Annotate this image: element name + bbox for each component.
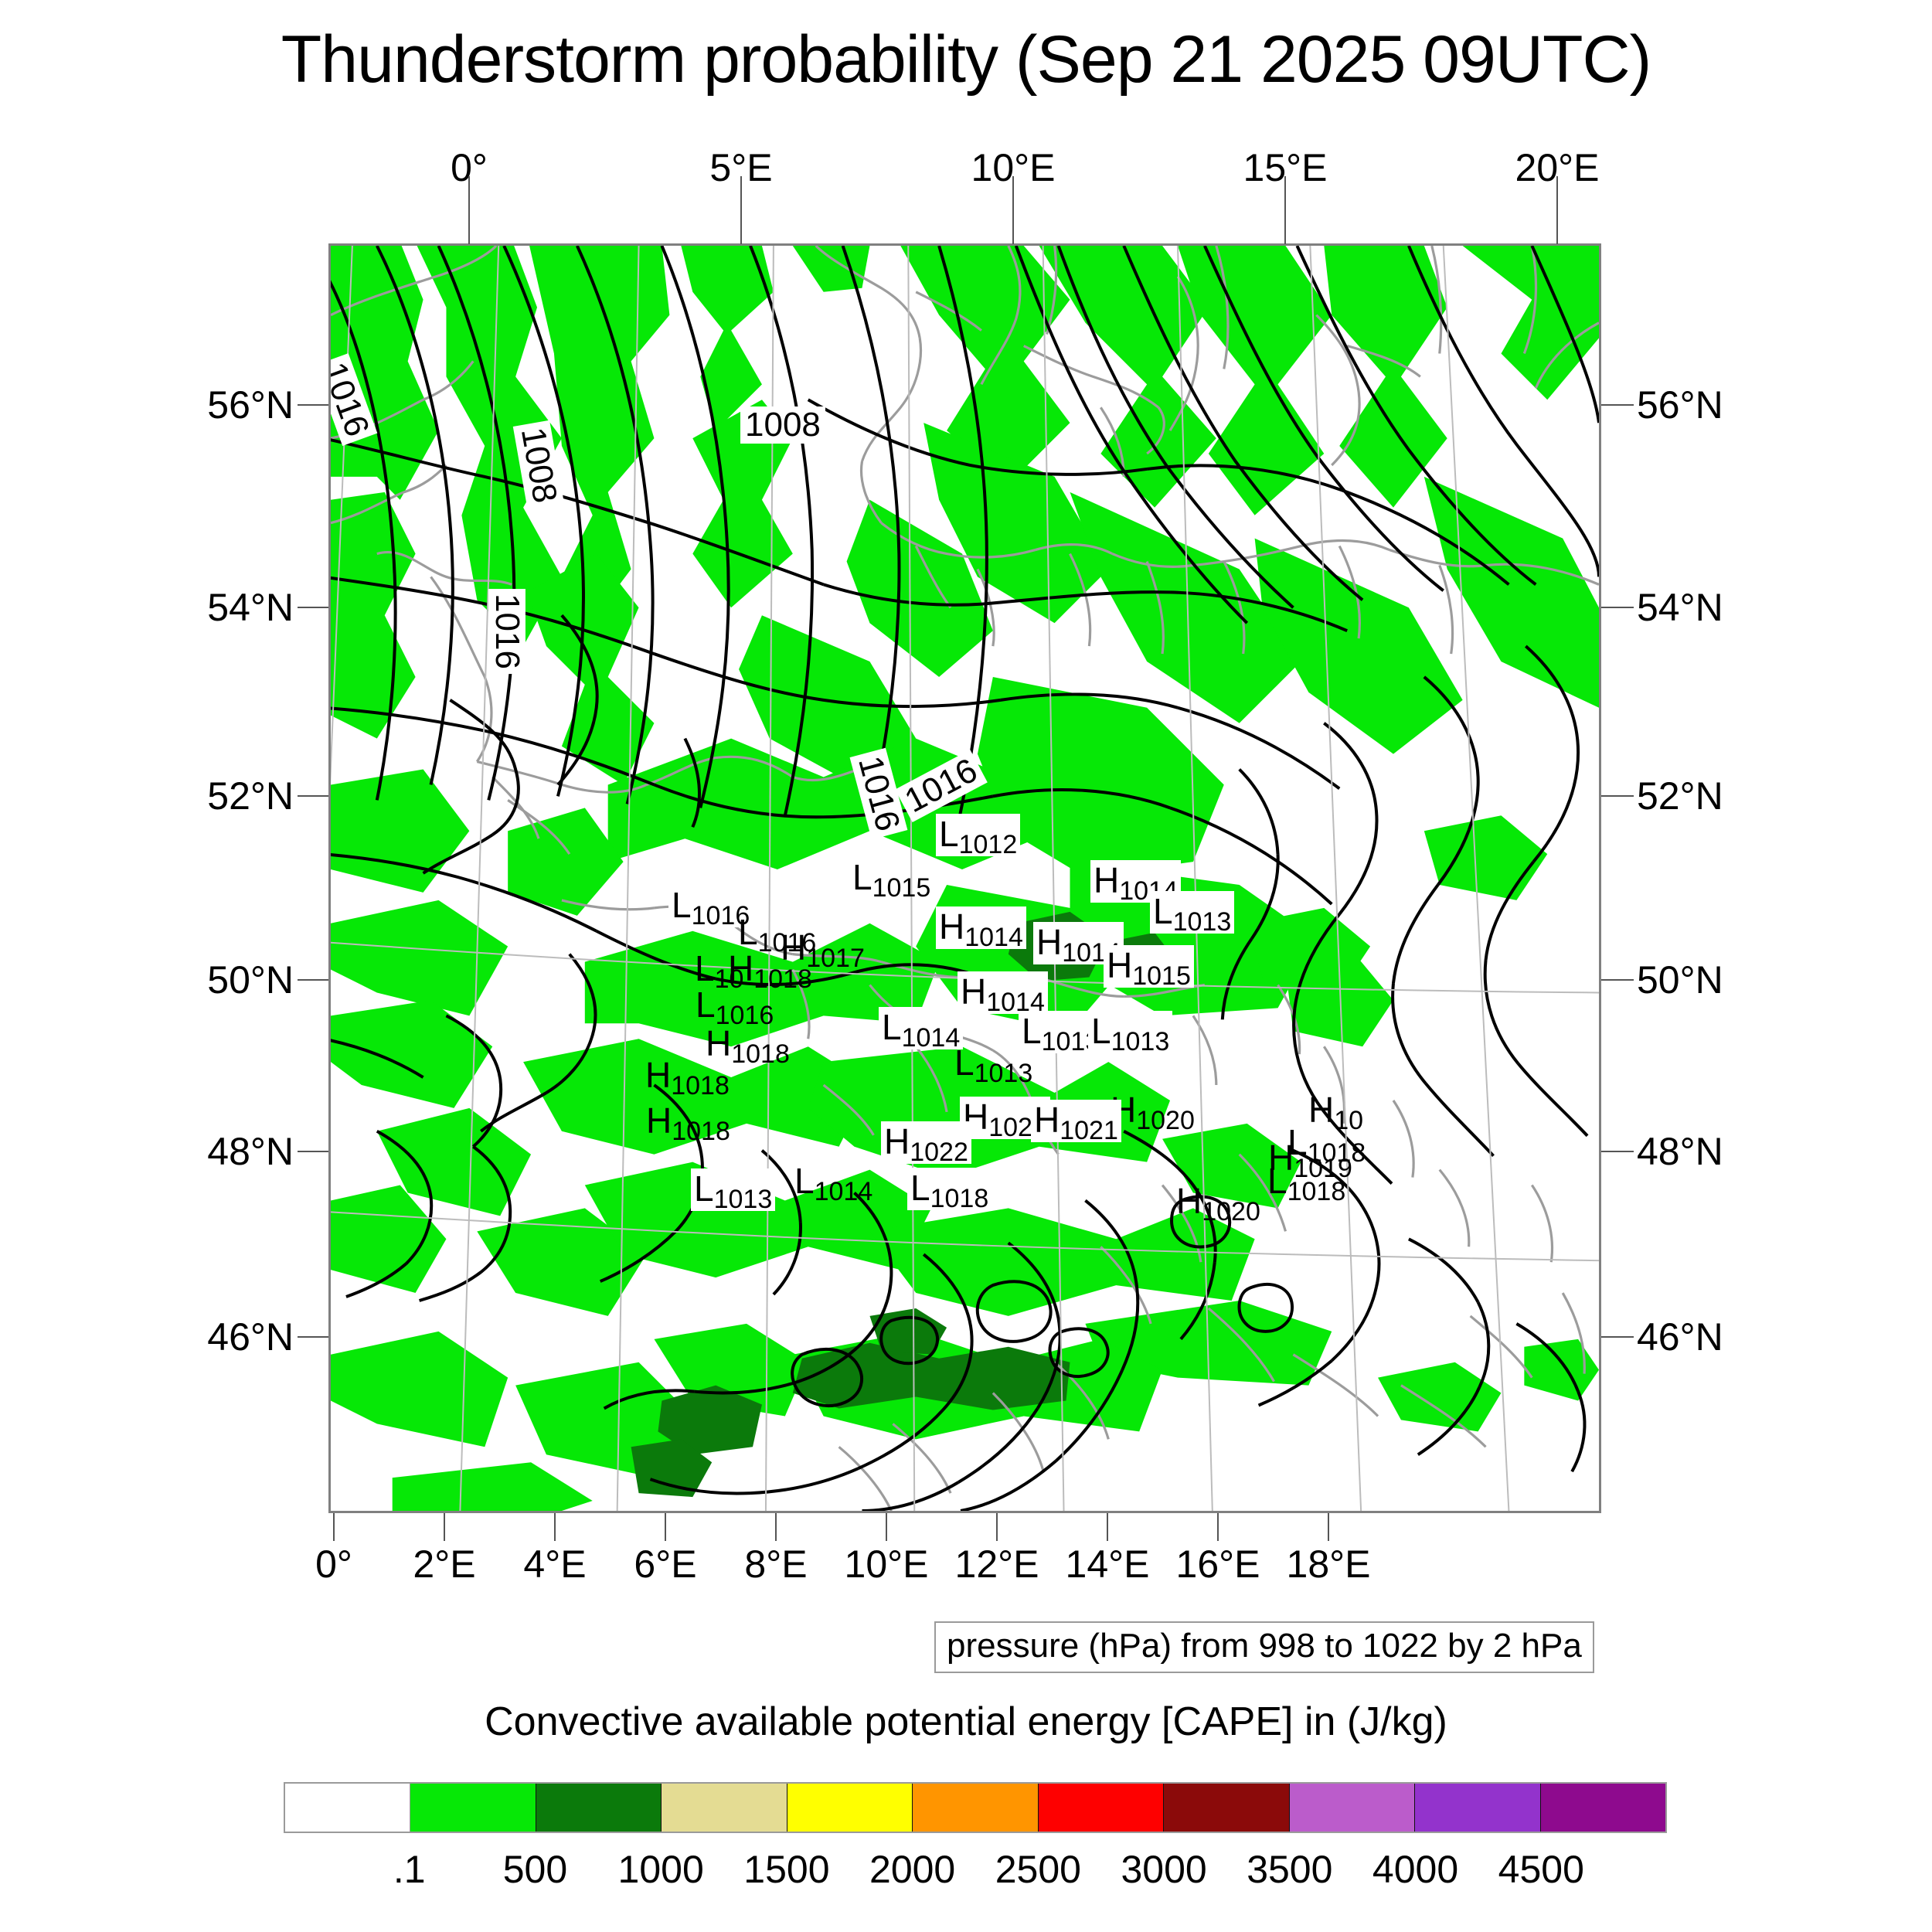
colorbar-tick-labels: .150010001500200025003000350040004500 [284, 1847, 1667, 1901]
pressure-centre-l-label: L1013 [954, 1045, 1032, 1080]
axis-tick [298, 607, 328, 608]
pressure-centre-type: H [1034, 1100, 1060, 1140]
axis-tick [996, 1513, 998, 1541]
pressure-centre-value: 1017 [806, 944, 865, 973]
axis-tick-label: 10°E [845, 1542, 929, 1587]
colorbar-swatch[interactable] [1415, 1784, 1540, 1832]
pressure-centre-value: 1014 [815, 1177, 873, 1206]
axis-tick [298, 404, 328, 406]
pressure-centre-type: L [852, 857, 872, 897]
colorbar-tick-label: 3000 [1121, 1847, 1206, 1892]
pressure-centre-l-label: L1014 [794, 1163, 872, 1199]
pressure-centre-l-label: L1016 [696, 987, 774, 1022]
axis-tick-label: 48°N [207, 1129, 294, 1174]
axis-tick [1601, 1336, 1634, 1338]
pressure-centre-type: H [884, 1121, 910, 1162]
axis-tick [886, 1513, 887, 1541]
pressure-centre-value: 1013 [975, 1059, 1033, 1088]
pressure-centre-value: 1013 [1111, 1027, 1170, 1056]
pressure-centre-l-label: L1013 [691, 1168, 775, 1211]
axis-tick [1107, 1513, 1108, 1541]
colorbar-tick-label: 4500 [1498, 1847, 1584, 1892]
pressure-centre-l-label: L1014 [879, 1007, 963, 1049]
pressure-centre-type: H [728, 948, 753, 988]
axis-tick [740, 176, 742, 244]
colorbar-tick-label: 3500 [1247, 1847, 1332, 1892]
axis-tick [1601, 795, 1634, 797]
pressure-centre-h-label: H1014 [957, 971, 1048, 1014]
pressure-centre-type: L [696, 985, 716, 1025]
colorbar-swatch[interactable] [913, 1784, 1038, 1832]
pressure-centre-type: H [939, 906, 964, 947]
pressure-centre-type: L [882, 1007, 902, 1047]
pressure-centre-l-label: L1013 [1088, 1011, 1172, 1053]
pressure-centre-type: L [910, 1168, 930, 1208]
axis-tick [554, 1513, 556, 1541]
axis-tick [665, 1513, 666, 1541]
axis-tick-label: 12°E [955, 1542, 1039, 1587]
pressure-centre-type: L [954, 1043, 975, 1083]
colorbar-swatch[interactable] [285, 1784, 410, 1832]
axis-tick [298, 795, 328, 797]
pressure-centre-h-label: H1018 [645, 1057, 730, 1093]
pressure-centre-h-label: H1018 [728, 951, 812, 986]
axis-tick-label: 56°N [207, 383, 294, 427]
pressure-centre-value: 1018 [731, 1039, 790, 1069]
axis-tick [1284, 176, 1286, 244]
pressure-centre-value: 1021 [1060, 1116, 1118, 1145]
axis-tick-label: 46°N [207, 1315, 294, 1359]
pressure-centre-type: L [1267, 1161, 1287, 1201]
axis-tick [1601, 404, 1634, 406]
pressure-centre-value: 1012 [959, 830, 1018, 859]
axis-tick [298, 1336, 328, 1338]
pressure-centre-type: H [1036, 922, 1062, 962]
axis-tick-label: 18°E [1287, 1542, 1371, 1587]
colorbar-tick-label: 2500 [995, 1847, 1081, 1892]
pressure-centre-type: H [646, 1100, 672, 1141]
axis-tick-label: 14°E [1066, 1542, 1150, 1587]
axis-tick-label: 54°N [1637, 585, 1723, 630]
pressure-centre-type: H [645, 1055, 671, 1095]
axis-tick-label: 50°N [207, 957, 294, 1002]
axis-tick [333, 1513, 335, 1541]
pressure-centre-value: 1013 [714, 1185, 773, 1214]
pressure-centre-value: 1015 [872, 873, 931, 903]
axis-tick [444, 1513, 445, 1541]
pressure-centre-value: 1014 [964, 923, 1023, 952]
pressure-centre-l-label: L1012 [936, 814, 1020, 856]
pressure-centre-type: L [695, 948, 715, 988]
pressure-centre-type: H [1107, 945, 1132, 985]
colorbar-swatch[interactable] [787, 1784, 913, 1832]
pressure-centre-type: L [1091, 1011, 1111, 1051]
axis-tick-label: 46°N [1637, 1315, 1723, 1359]
colorbar[interactable] [284, 1782, 1667, 1833]
pressure-centre-value: 1020 [1136, 1106, 1195, 1135]
pressure-centre-value: 1020 [1202, 1197, 1260, 1226]
pressure-centre-h-label: H1018 [646, 1103, 730, 1138]
axis-tick-label: 0° [315, 1542, 352, 1587]
pressure-centre-type: L [672, 885, 692, 925]
pressure-centre-type: H [961, 971, 986, 1012]
axis-tick [298, 1151, 328, 1152]
colorbar-tick-label: 1000 [618, 1847, 704, 1892]
pressure-centre-value: 1018 [930, 1184, 989, 1213]
pressure-centre-value: 1022 [910, 1138, 968, 1167]
pressure-centre-type: L [939, 814, 959, 854]
pressure-centre-type: L [694, 1168, 714, 1209]
axis-tick-label: 16°E [1176, 1542, 1260, 1587]
axis-tick [1217, 1513, 1219, 1541]
axis-tick-label: 50°N [1637, 957, 1723, 1002]
pressure-centre-l-label: L1018 [907, 1168, 992, 1210]
pressure-centre-value: 1018 [672, 1117, 730, 1146]
contour-label: 1008 [740, 406, 825, 444]
pressure-centre-type: L [1153, 891, 1173, 931]
pressure-centre-h-label: H1020 [1176, 1183, 1260, 1219]
pressure-centre-h-label: H1021 [1031, 1100, 1121, 1142]
axis-tick-label: 52°N [1637, 774, 1723, 818]
pressure-centre-h-label: H1018 [706, 1026, 790, 1061]
colorbar-swatch[interactable] [536, 1784, 662, 1832]
pressure-centre-type: L [794, 1161, 815, 1201]
axis-tick [1328, 1513, 1329, 1541]
page-title: Thunderstorm probability (Sep 21 2025 09… [0, 22, 1932, 98]
pressure-centre-h-label: H1020 [1111, 1092, 1195, 1128]
pressure-centre-value: 1013 [1173, 907, 1232, 937]
pressure-centre-value: 1018 [1287, 1177, 1346, 1206]
axis-tick-label: 6°E [634, 1542, 696, 1587]
colorbar-swatch[interactable] [1039, 1784, 1164, 1832]
axis-tick-label: 52°N [207, 774, 294, 818]
colorbar-tick-label: 500 [503, 1847, 567, 1892]
colorbar-tick-label: 2000 [869, 1847, 955, 1892]
axis-tick-label: 54°N [207, 585, 294, 630]
axis-tick [468, 176, 470, 244]
pressure-centre-type: L [738, 912, 758, 952]
axis-tick [1601, 607, 1634, 608]
axis-tick-label: 2°E [413, 1542, 475, 1587]
colorbar-tick-label: 1500 [743, 1847, 829, 1892]
pressure-centre-l-label: L1015 [852, 859, 930, 895]
colorbar-caption: Convective available potential energy [C… [0, 1699, 1932, 1745]
pressure-centre-type: H [1094, 860, 1119, 900]
colorbar-swatch[interactable] [1164, 1784, 1289, 1832]
pressure-note: pressure (hPa) from 998 to 1022 by 2 hPa [934, 1621, 1594, 1673]
pressure-centre-h-label: H1014 [936, 906, 1026, 949]
pressure-centre-value: 1018 [671, 1071, 730, 1100]
axis-tick [1601, 1151, 1634, 1152]
axis-tick-label: 8°E [744, 1542, 807, 1587]
colorbar-swatch[interactable] [1290, 1784, 1415, 1832]
axis-tick-label: 4°E [523, 1542, 586, 1587]
contour-label: 1016 [488, 589, 526, 674]
axis-tick-label: 48°N [1637, 1129, 1723, 1174]
colorbar-swatch[interactable] [410, 1784, 536, 1832]
colorbar-swatch[interactable] [1541, 1784, 1665, 1832]
colorbar-swatch[interactable] [662, 1784, 787, 1832]
axis-tick-label: 56°N [1637, 383, 1723, 427]
axis-tick [1601, 979, 1634, 981]
map-panel[interactable]: 1016 1008 1008 1016 1016 1016 [328, 243, 1601, 1513]
axis-tick [1012, 176, 1014, 244]
pressure-centre-value: 1015 [1132, 961, 1191, 991]
axis-tick [1556, 176, 1558, 244]
axis-tick [298, 979, 328, 981]
pressure-centre-l-label: L1018 [1267, 1163, 1345, 1199]
axis-tick [775, 1513, 777, 1541]
pressure-centre-h-label: H10 [1308, 1092, 1363, 1128]
pressure-centre-value: 1014 [902, 1023, 961, 1053]
colorbar-tick-label: 4000 [1372, 1847, 1458, 1892]
pressure-centre-l-label: L1013 [1150, 891, 1234, 934]
pressure-centre-type: H [1176, 1181, 1202, 1221]
pressure-centre-h-label: H1022 [881, 1121, 971, 1164]
pressure-centre-h-label: H1015 [1104, 945, 1194, 988]
colorbar-tick-label: .1 [393, 1847, 426, 1892]
